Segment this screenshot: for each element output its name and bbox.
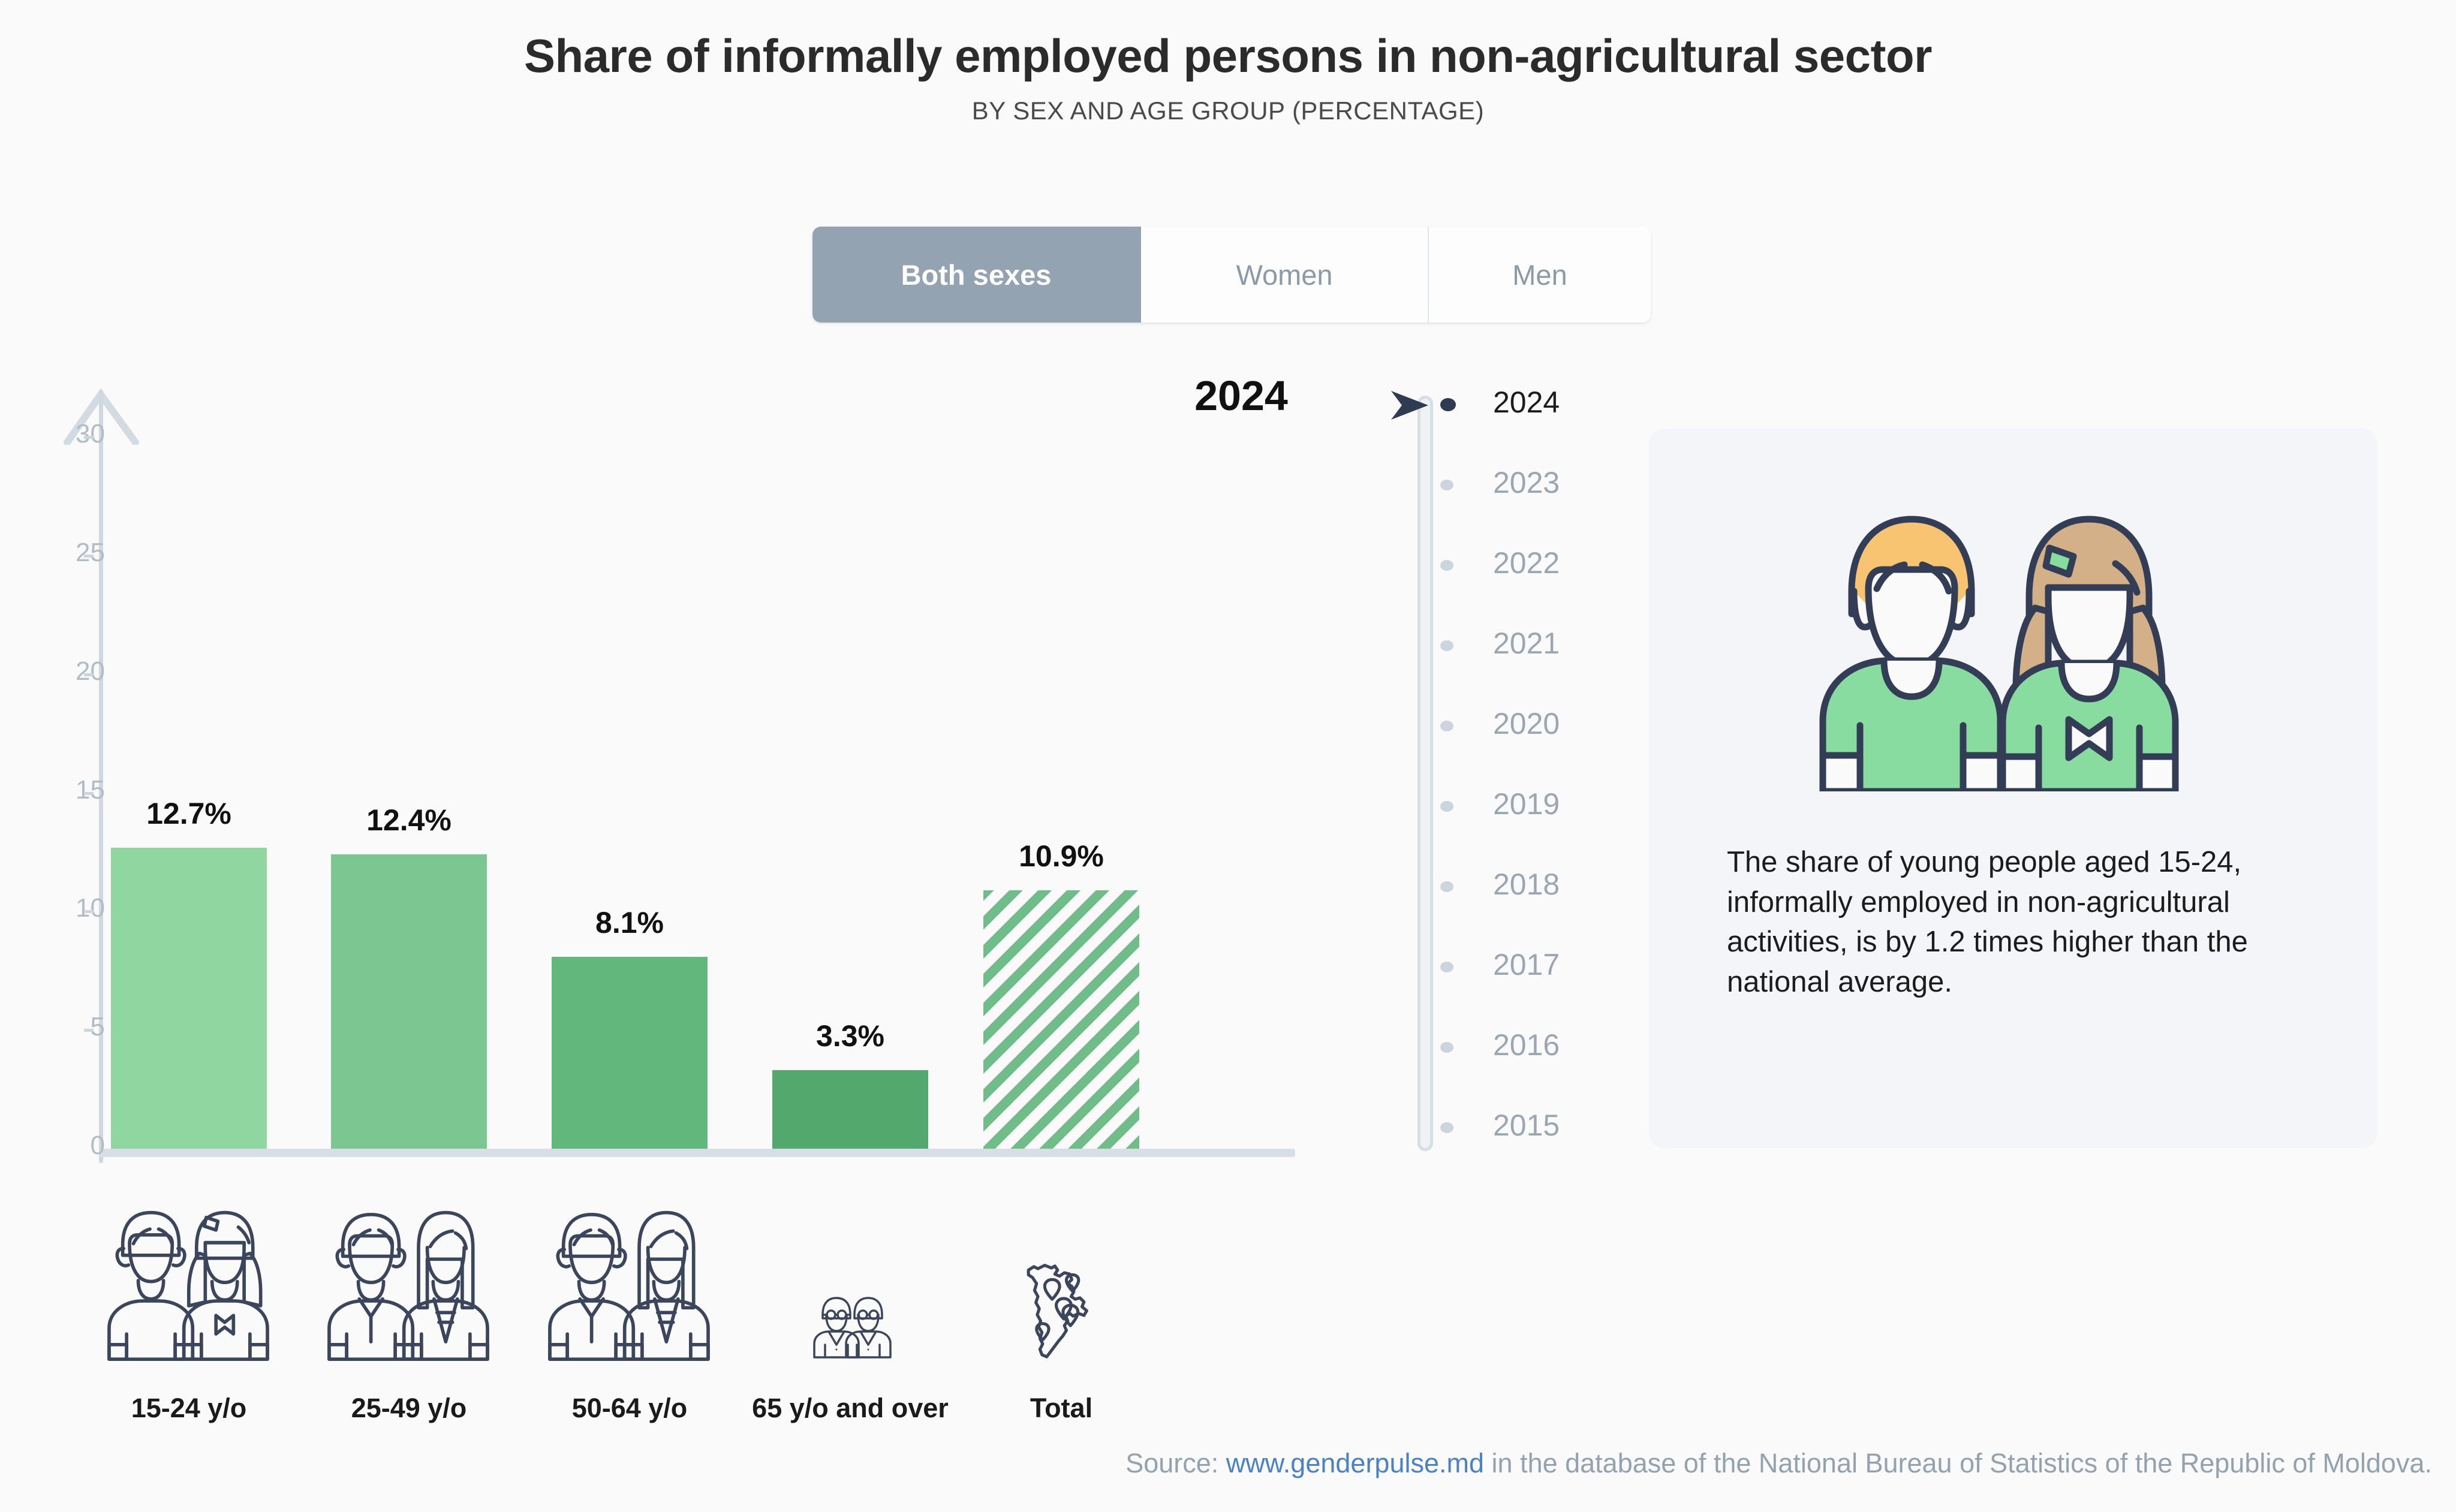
timeline-year-label: 2017 [1493, 947, 1560, 982]
timeline-year-label: 2023 [1493, 465, 1560, 500]
timeline-year-dot [1440, 640, 1453, 651]
bar-65-y-o-and-over[interactable] [772, 1070, 928, 1149]
bar-50-64-y-o[interactable] [552, 957, 708, 1149]
timeline-year-2022[interactable]: 2022 [1397, 544, 1649, 586]
timeline-year-dot [1440, 962, 1453, 972]
info-panel-text: The share of young people aged 15-24, in… [1727, 842, 2308, 1002]
elderly-couple-icon [805, 1286, 895, 1364]
year-timeline[interactable]: 2024202320222021202020192018201720162015 [1397, 384, 1649, 1163]
timeline-year-2018[interactable]: 2018 [1397, 866, 1649, 908]
source-suffix: in the database of the National Bureau o… [1484, 1448, 2432, 1478]
y-axis-tick-label: 25 [33, 538, 105, 568]
page-header: Share of informally employed persons in … [0, 0, 2456, 125]
y-axis-tick-label: 20 [33, 656, 105, 686]
timeline-year-2015[interactable]: 2015 [1397, 1107, 1649, 1149]
adult-couple-icon [321, 1196, 496, 1364]
timeline-year-label: 2020 [1493, 706, 1560, 741]
y-axis-tick-label: 0 [33, 1131, 105, 1161]
timeline-year-label: 2018 [1493, 867, 1560, 902]
bar-total[interactable] [983, 890, 1139, 1149]
timeline-year-dot [1440, 721, 1453, 731]
y-axis-tick-label: 5 [33, 1012, 105, 1042]
timeline-year-2019[interactable]: 2019 [1397, 785, 1649, 827]
tab-both-sexes[interactable]: Both sexes [812, 227, 1141, 323]
y-axis-tick-mark [84, 792, 94, 795]
x-axis-line [99, 1149, 1295, 1157]
timeline-year-dot [1440, 480, 1453, 490]
timeline-year-2023[interactable]: 2023 [1397, 464, 1649, 506]
timeline-year-label: 2016 [1493, 1028, 1560, 1062]
source-link[interactable]: www.genderpulse.md [1226, 1448, 1484, 1478]
tab-men[interactable]: Men [1429, 227, 1651, 323]
timeline-year-2020[interactable]: 2020 [1397, 705, 1649, 747]
timeline-year-2024[interactable]: 2024 [1397, 384, 1649, 426]
moldova-map-icon [1022, 1263, 1100, 1364]
y-axis-tick-label: 30 [33, 419, 105, 449]
y-axis-tick-label: 10 [33, 893, 105, 923]
timeline-year-label: 2021 [1493, 626, 1560, 661]
bar-value-label: 12.4% [307, 803, 511, 838]
timeline-year-2017[interactable]: 2017 [1397, 946, 1649, 988]
timeline-year-dot [1440, 801, 1453, 812]
timeline-year-dot [1440, 1042, 1453, 1053]
source-footer: Source: www.genderpulse.md in the databa… [0, 1448, 2456, 1479]
boy-and-girl-illustration-icon [1787, 486, 2219, 791]
bar-value-label: 3.3% [748, 1019, 952, 1053]
bar-chart: 2024 051015202530 12.7%12.4%8.1%3.3%10.9… [0, 372, 1349, 1211]
timeline-year-2021[interactable]: 2021 [1397, 625, 1649, 667]
y-axis-tick-mark [84, 555, 94, 558]
bar-value-label: 8.1% [528, 905, 732, 940]
tab-women[interactable]: Women [1141, 227, 1429, 323]
timeline-year-label: 2022 [1493, 546, 1560, 580]
timeline-year-dot [1440, 398, 1456, 411]
category-strip: 15-24 y/o25-49 y/o50-64 y/o65 y/o and ov… [0, 1184, 1349, 1436]
page-subtitle: BY SEX AND AGE GROUP (PERCENTAGE) [0, 83, 2456, 125]
bar-value-label: 12.7% [87, 796, 291, 831]
info-panel: The share of young people aged 15-24, in… [1649, 429, 2377, 1148]
y-axis-tick-mark [84, 910, 94, 913]
y-axis-tick-mark [84, 436, 94, 439]
young-couple-icon [101, 1196, 276, 1364]
category-label: Total [881, 1393, 1241, 1424]
timeline-year-dot [1440, 881, 1453, 892]
page-title: Share of informally employed persons in … [0, 0, 2456, 83]
y-axis-tick-mark [84, 673, 94, 676]
timeline-year-2016[interactable]: 2016 [1397, 1026, 1649, 1068]
mature-couple-icon [542, 1196, 717, 1364]
bar-value-label: 10.9% [959, 839, 1163, 874]
sex-filter-tabs[interactable]: Both sexes Women Men [812, 227, 1651, 323]
timeline-year-label: 2015 [1493, 1108, 1560, 1143]
y-axis-tick-mark [84, 1029, 94, 1032]
timeline-year-label: 2024 [1493, 385, 1560, 420]
timeline-year-label: 2019 [1493, 787, 1560, 821]
timeline-year-dot [1440, 1122, 1453, 1133]
timeline-year-dot [1440, 560, 1453, 571]
bar-15-24-y-o[interactable] [111, 848, 267, 1149]
source-prefix: Source: [1125, 1448, 1226, 1478]
chart-year-heading: 2024 [1115, 372, 1367, 420]
bar-25-49-y-o[interactable] [331, 854, 487, 1149]
